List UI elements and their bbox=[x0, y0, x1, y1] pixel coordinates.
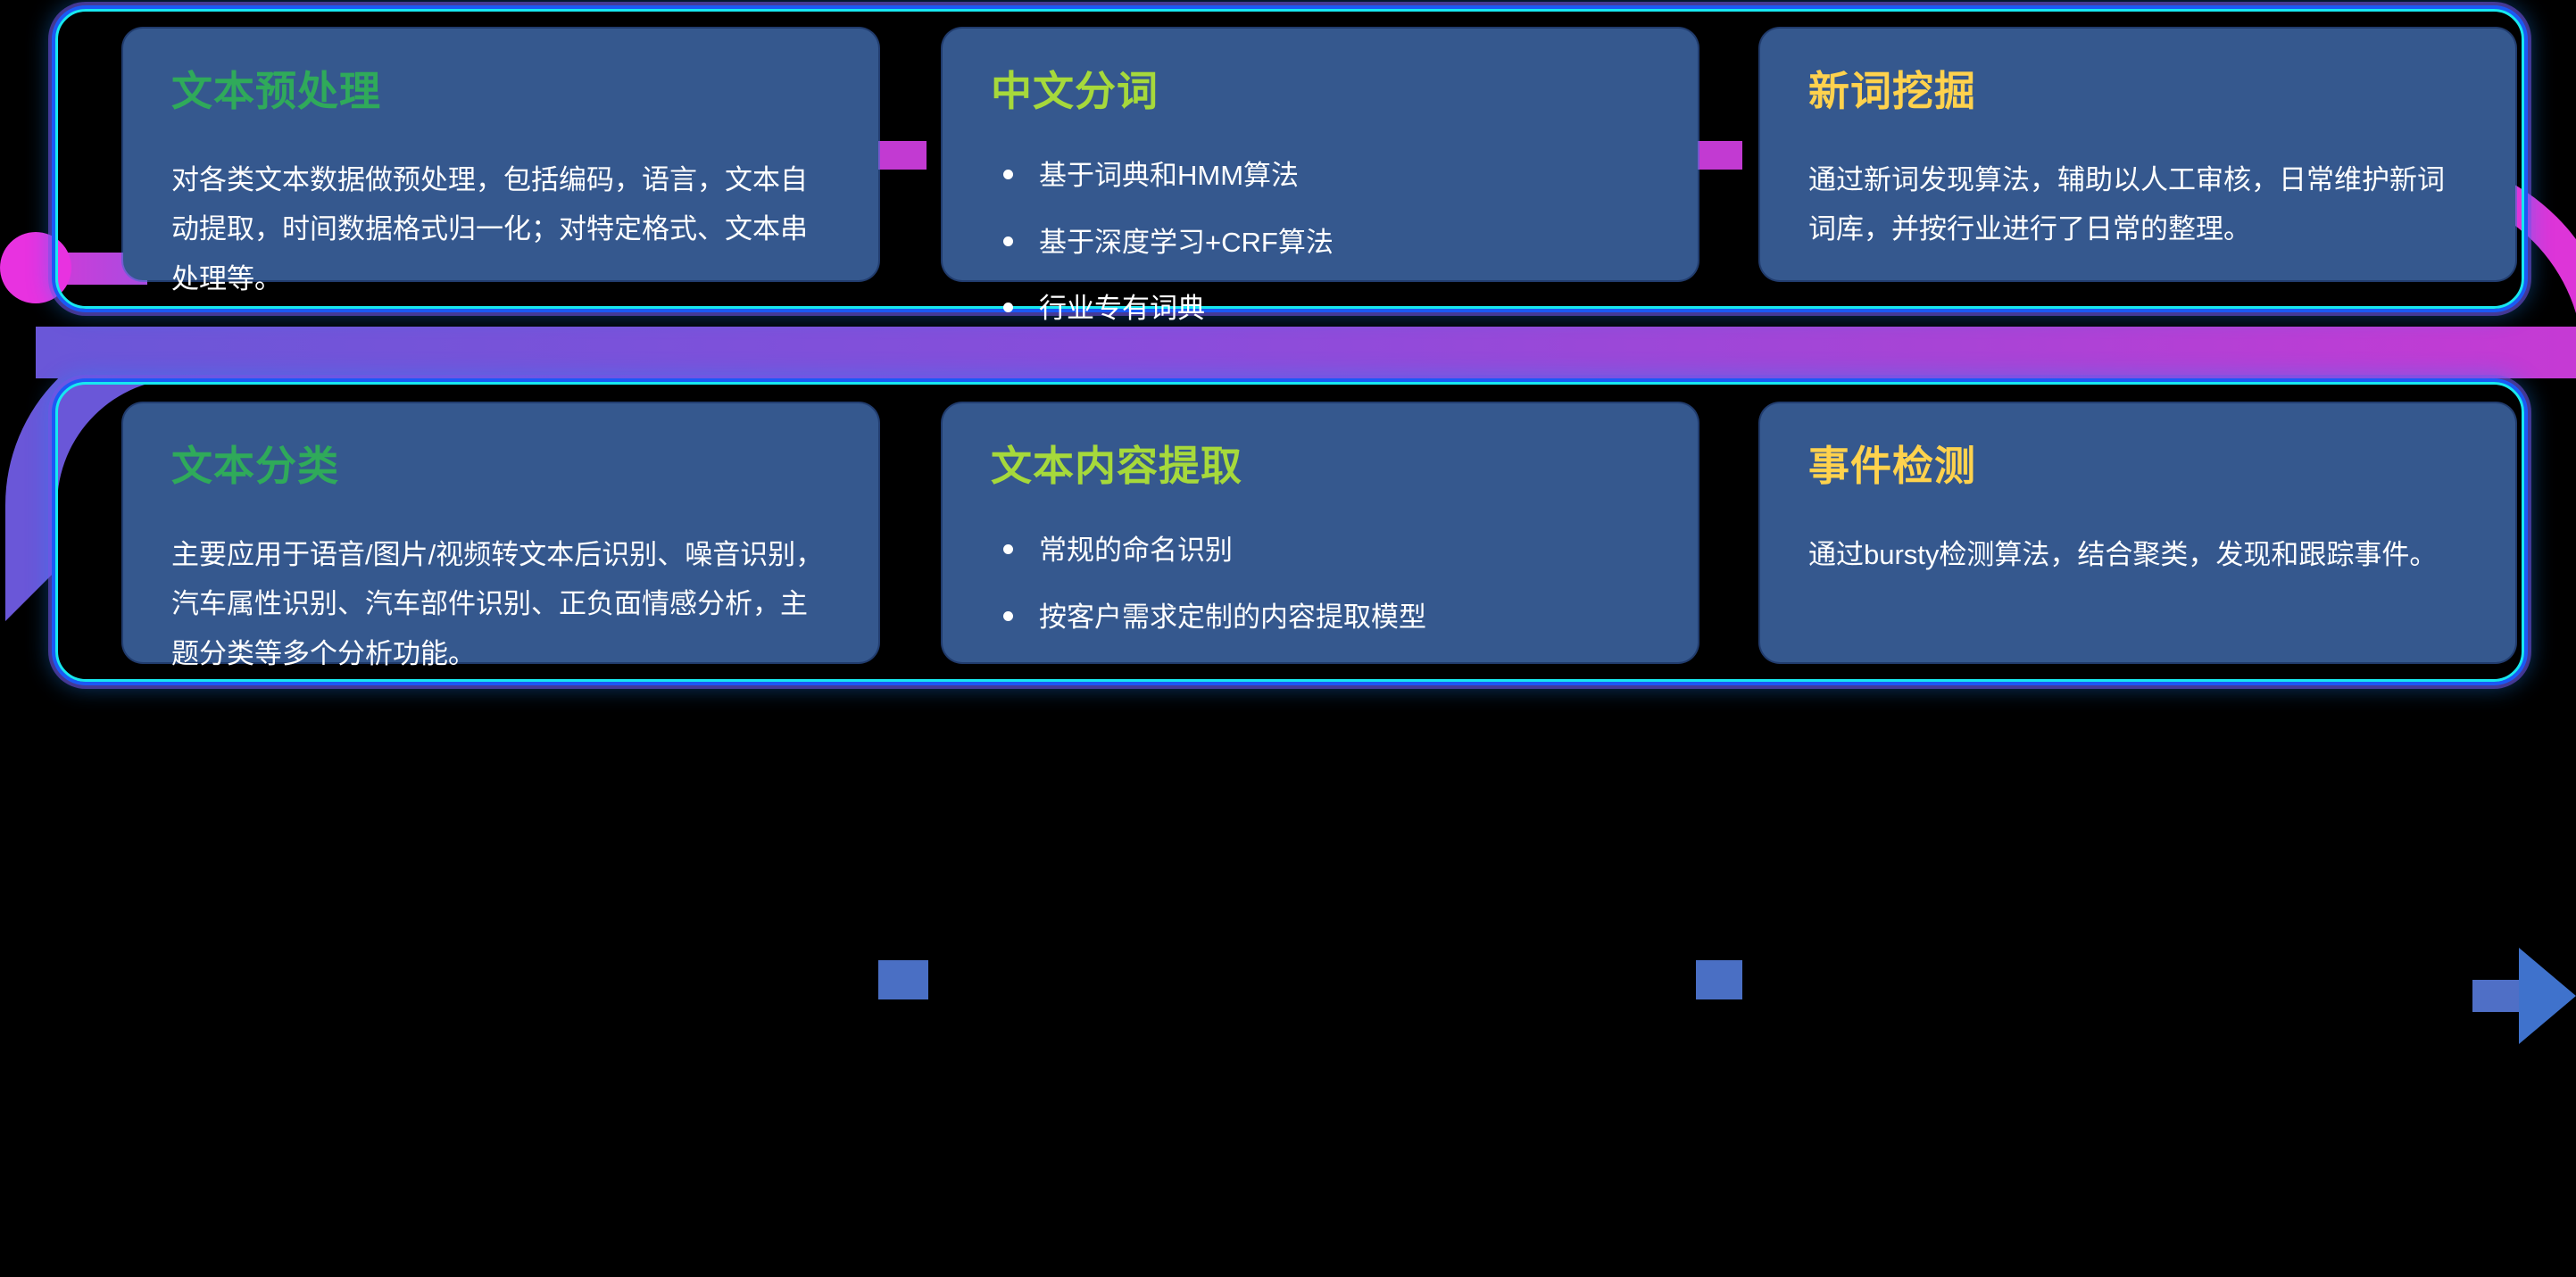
card-title: 文本预处理 bbox=[171, 70, 830, 112]
card-event-detection[interactable]: 事件检测 通过bursty检测算法，结合聚类，发现和跟踪事件。 bbox=[1760, 403, 2515, 662]
card-text-preprocessing[interactable]: 文本预处理 对各类文本数据做预处理，包括编码，语言，文本自动提取，时间数据格式归… bbox=[123, 29, 878, 280]
card-text-classification[interactable]: 文本分类 主要应用于语音/图片/视频转文本后识别、噪音识别，汽车属性识别、汽车部… bbox=[123, 403, 878, 662]
card-body: 通过bursty检测算法，结合聚类，发现和跟踪事件。 bbox=[1808, 530, 2467, 579]
bullet-list: 基于词典和HMM算法 基于深度学习+CRF算法 行业专有词典 bbox=[991, 155, 1649, 330]
card-body: 基于词典和HMM算法 基于深度学习+CRF算法 行业专有词典 bbox=[991, 155, 1649, 330]
bullet-dot-icon bbox=[1003, 303, 1013, 312]
card-text-content-extraction[interactable]: 文本内容提取 常规的命名识别 按客户需求定制的内容提取模型 bbox=[943, 403, 1698, 662]
card-title: 文本内容提取 bbox=[991, 444, 1649, 487]
card-body: 常规的命名识别 按客户需求定制的内容提取模型 bbox=[991, 530, 1649, 638]
list-item: 基于深度学习+CRF算法 bbox=[991, 222, 1649, 264]
card-chinese-word-segmentation[interactable]: 中文分词 基于词典和HMM算法 基于深度学习+CRF算法 行业专有词典 bbox=[943, 29, 1698, 280]
card-title: 事件检测 bbox=[1808, 444, 2467, 487]
card-body: 主要应用于语音/图片/视频转文本后识别、噪音识别，汽车属性识别、汽车部件识别、正… bbox=[171, 530, 830, 678]
card-paragraph: 通过新词发现算法，辅助以人工审核，日常维护新词词库，并按行业进行了日常的整理。 bbox=[1808, 155, 2467, 253]
card-paragraph: 对各类文本数据做预处理，包括编码，语言，文本自动提取，时间数据格式归一化；对特定… bbox=[171, 155, 830, 303]
list-item: 按客户需求定制的内容提取模型 bbox=[991, 597, 1649, 639]
bullet-list: 常规的命名识别 按客户需求定制的内容提取模型 bbox=[991, 530, 1649, 638]
entry-start-dot bbox=[0, 232, 71, 303]
connector-top-1 bbox=[878, 141, 927, 170]
connector-bottom-1 bbox=[878, 960, 928, 999]
bullet-dot-icon bbox=[1003, 611, 1013, 621]
bullet-dot-icon bbox=[1003, 170, 1013, 179]
card-body: 对各类文本数据做预处理，包括编码，语言，文本自动提取，时间数据格式归一化；对特定… bbox=[171, 155, 830, 303]
list-item: 基于词典和HMM算法 bbox=[991, 155, 1649, 197]
list-item-label: 按客户需求定制的内容提取模型 bbox=[1039, 601, 1426, 633]
list-item-label: 基于词典和HMM算法 bbox=[1039, 160, 1299, 191]
bullet-dot-icon bbox=[1003, 544, 1013, 554]
list-item: 行业专有词典 bbox=[991, 288, 1649, 330]
return-band-horizontal bbox=[36, 327, 2576, 378]
connector-top-2 bbox=[1696, 141, 1742, 170]
card-new-word-discovery[interactable]: 新词挖掘 通过新词发现算法，辅助以人工审核，日常维护新词词库，并按行业进行了日常… bbox=[1760, 29, 2515, 280]
exit-arrow-icon bbox=[2519, 948, 2576, 1044]
card-title: 新词挖掘 bbox=[1808, 70, 2467, 112]
diagram-canvas: 文本预处理 对各类文本数据做预处理，包括编码，语言，文本自动提取，时间数据格式归… bbox=[0, 0, 2576, 1277]
connector-bottom-2 bbox=[1696, 960, 1742, 999]
list-item-label: 基于深度学习+CRF算法 bbox=[1039, 227, 1334, 258]
list-item: 常规的命名识别 bbox=[991, 530, 1649, 572]
card-paragraph: 主要应用于语音/图片/视频转文本后识别、噪音识别，汽车属性识别、汽车部件识别、正… bbox=[171, 530, 830, 678]
card-title: 文本分类 bbox=[171, 444, 830, 487]
card-body: 通过新词发现算法，辅助以人工审核，日常维护新词词库，并按行业进行了日常的整理。 bbox=[1808, 155, 2467, 253]
card-paragraph: 通过bursty检测算法，结合聚类，发现和跟踪事件。 bbox=[1808, 530, 2467, 579]
list-item-label: 行业专有词典 bbox=[1039, 293, 1205, 324]
card-title: 中文分词 bbox=[991, 70, 1649, 112]
list-item-label: 常规的命名识别 bbox=[1039, 535, 1233, 566]
bullet-dot-icon bbox=[1003, 236, 1013, 246]
